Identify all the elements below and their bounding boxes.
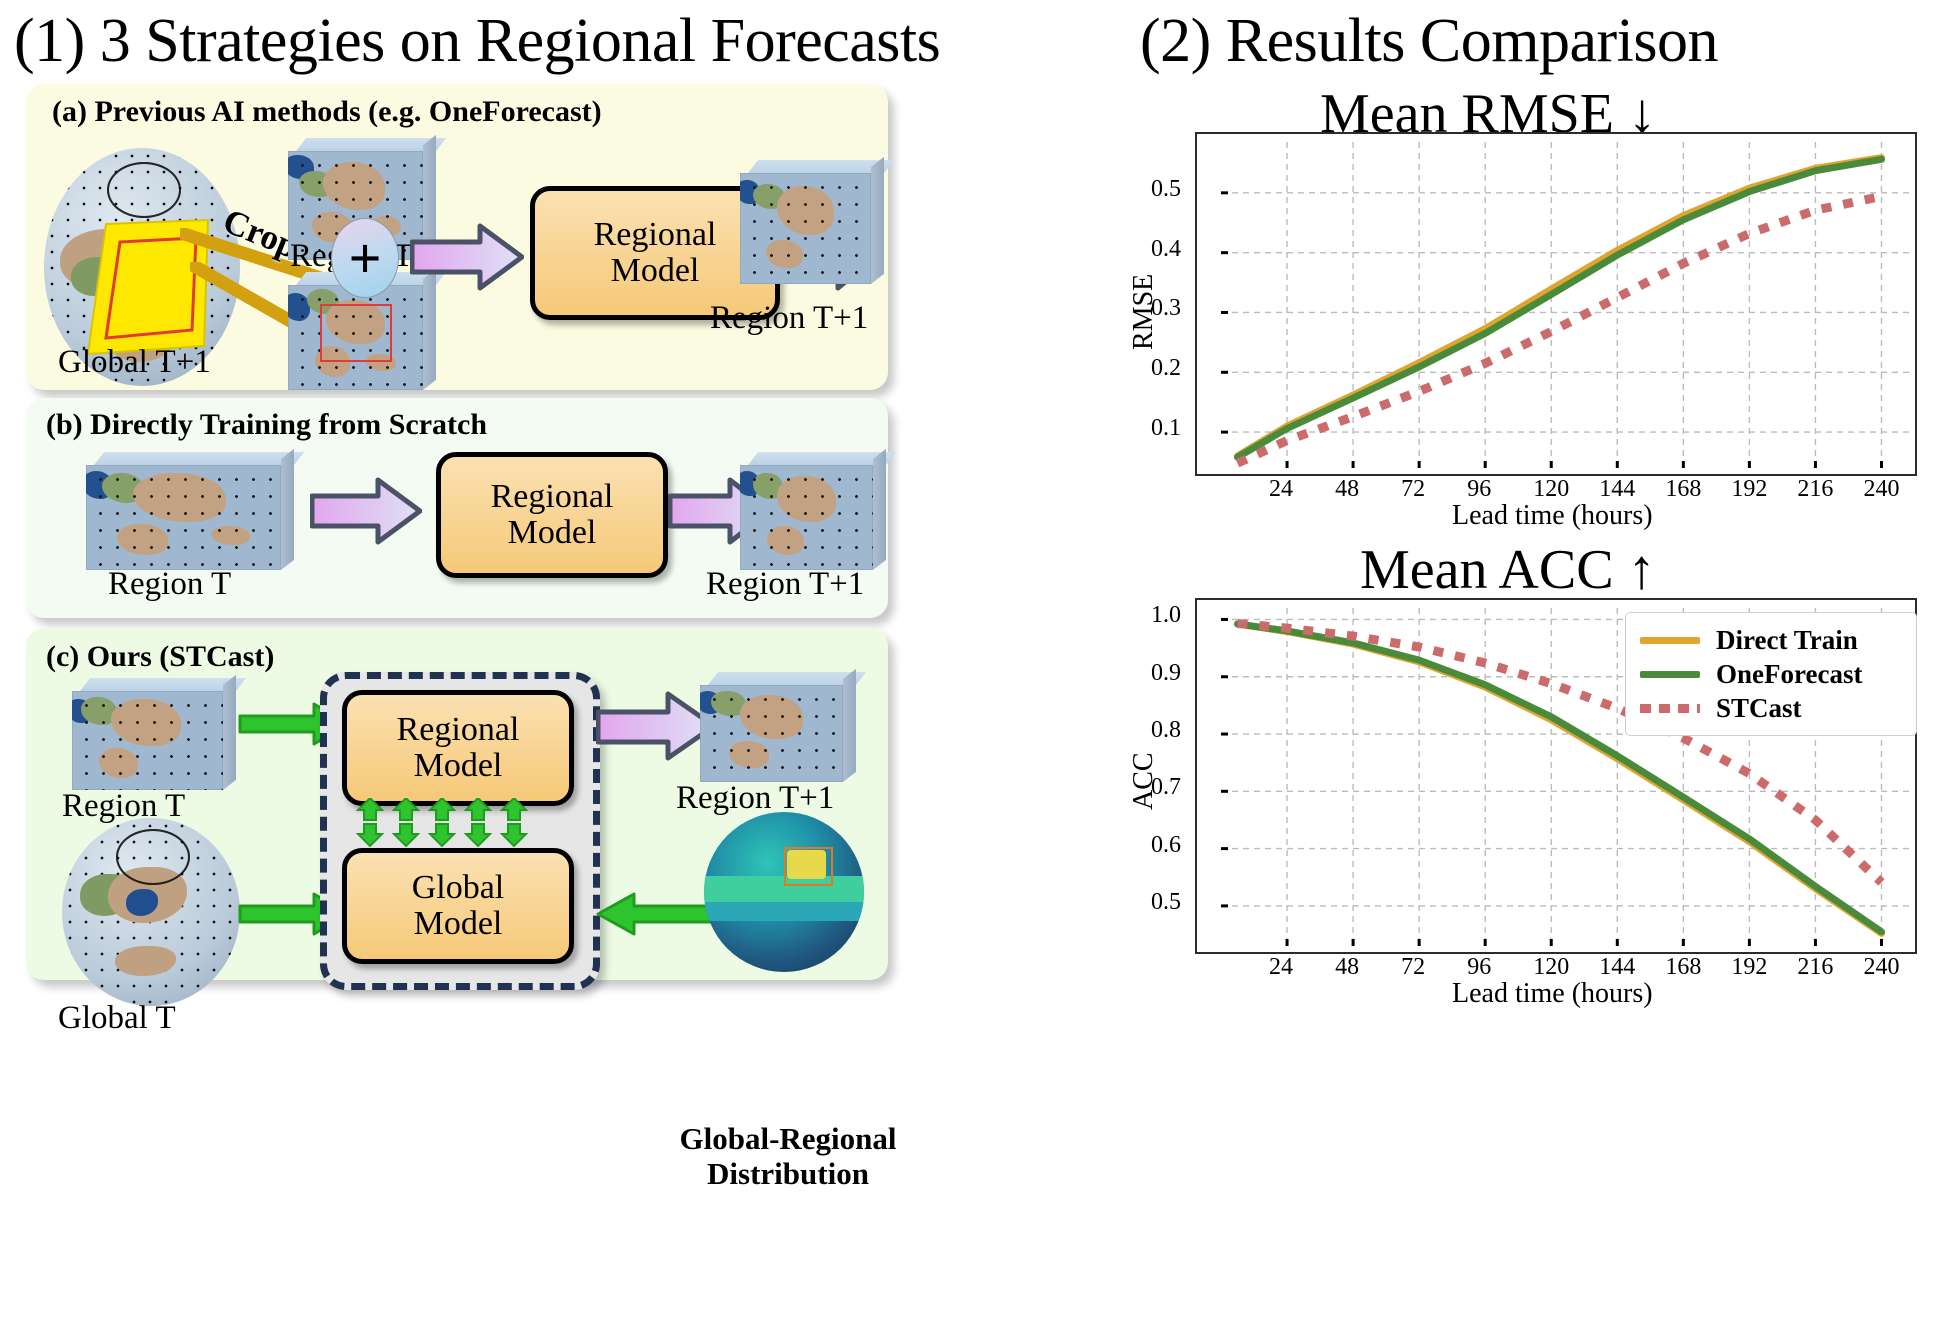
y-tick-label: 0.5 (1151, 889, 1181, 916)
tile-map-face (86, 465, 281, 570)
x-tick-label: 48 (1335, 476, 1359, 503)
x-tick-label: 144 (1599, 476, 1635, 503)
tile-side-face (873, 449, 886, 570)
model-label-line2: Model (611, 253, 700, 289)
tile-map-face (700, 685, 843, 782)
x-tick-label: 168 (1665, 954, 1701, 981)
latitude-ring (116, 829, 190, 885)
arrow-to-regional-model-b (310, 476, 422, 546)
acc-x-axis-label: Lead time (hours) (1452, 978, 1653, 1010)
x-tick-label: 72 (1401, 954, 1425, 981)
x-tick-label: 120 (1533, 954, 1569, 981)
legend-swatch-oneforecast (1640, 671, 1700, 678)
model-label-line2: Model (414, 906, 503, 942)
y-tick-label: 0.5 (1151, 176, 1181, 203)
tile-top-face (94, 452, 304, 465)
y-tick-label: 0.2 (1151, 355, 1181, 382)
legend-swatch-stcast (1640, 704, 1700, 713)
tile-side-face (843, 669, 856, 782)
acc-chart-legend: Direct Train OneForecast STCast (1625, 612, 1917, 736)
model-label-line2: Model (508, 515, 597, 551)
model-label-line1: Regional (594, 217, 717, 253)
tile-top-face (80, 678, 246, 691)
region-t1-caption-b: Region T+1 (706, 566, 864, 603)
region-t-tile-c (72, 678, 236, 790)
acc-chart-title: Mean ACC ↑ (1360, 538, 1656, 602)
tile-side-face (281, 449, 294, 570)
tile-map-face (72, 691, 223, 790)
region-t1-tile-c (700, 672, 856, 782)
legend-item: OneForecast (1640, 657, 1902, 691)
arrow-to-regional-model-a (410, 222, 524, 292)
x-tick-label: 216 (1797, 476, 1833, 503)
section-title-strategies: (1) 3 Strategies on Regional Forecasts (14, 6, 940, 77)
model-label-line2: Model (414, 748, 503, 784)
x-tick-label: 192 (1731, 476, 1767, 503)
distribution-band (704, 902, 864, 921)
dist-label-line1: Global-Regional (648, 1122, 928, 1157)
tile-map-face (288, 285, 423, 390)
bidirectional-coupling-arrows (356, 798, 556, 848)
y-tick-label: 0.4 (1151, 236, 1181, 263)
legend-swatch-direct-train (1640, 637, 1700, 644)
x-tick-label: 192 (1731, 954, 1767, 981)
legend-label: Direct Train (1716, 625, 1858, 656)
x-tick-label: 216 (1797, 954, 1833, 981)
region-t-tile-b (86, 452, 294, 570)
legend-label: STCast (1716, 693, 1802, 724)
rmse-x-axis-label: Lead time (hours) (1452, 500, 1653, 532)
crop-region-box (320, 304, 392, 363)
global-t-caption-c: Global T (58, 1000, 176, 1037)
dist-label-line2: Distribution (648, 1157, 928, 1192)
tile-map-face (740, 173, 871, 284)
regional-model-box-c: Regional Model (342, 690, 574, 806)
latitude-ring (107, 162, 181, 218)
panel-c-label: (c) Ours (STCast) (46, 640, 274, 674)
x-tick-label: 120 (1533, 476, 1569, 503)
x-tick-label: 48 (1335, 954, 1359, 981)
rmse-plot-area (1195, 132, 1917, 476)
arrow-distribution-to-global-model (590, 890, 712, 938)
x-tick-label: 72 (1401, 476, 1425, 503)
x-tick-label: 168 (1665, 476, 1701, 503)
section-title-results: (2) Results Comparison (1140, 6, 1718, 77)
y-tick-label: 0.1 (1151, 415, 1181, 442)
region-t1-tile-a (740, 160, 884, 284)
x-tick-label: 144 (1599, 954, 1635, 981)
rmse-chart-svg (1197, 134, 1915, 474)
y-tick-label: 0.3 (1151, 295, 1181, 322)
y-tick-label: 0.9 (1151, 660, 1181, 687)
region-t1-caption-c: Region T+1 (676, 780, 834, 817)
legend-item: Direct Train (1640, 623, 1902, 657)
legend-label: OneForecast (1716, 659, 1862, 690)
globe-global-t-icon (62, 818, 240, 1006)
plus-operator-icon: + (331, 218, 399, 298)
y-tick-label: 0.6 (1151, 832, 1181, 859)
y-tick-label: 0.7 (1151, 774, 1181, 801)
grid-dots (740, 465, 873, 570)
grid-dots (700, 685, 843, 782)
globe-caption-global-t1: Global T+1 (58, 344, 211, 381)
regional-model-box-b: Regional Model (436, 452, 668, 578)
y-tick-label: 1.0 (1151, 602, 1181, 629)
region-t1-caption-a: Region T+1 (710, 300, 868, 337)
panel-b-label: (b) Directly Training from Scratch (46, 408, 487, 442)
x-tick-label: 96 (1467, 476, 1491, 503)
model-label-line1: Global (412, 870, 505, 906)
y-tick-label: 0.8 (1151, 717, 1181, 744)
x-tick-label: 24 (1269, 954, 1293, 981)
legend-item: STCast (1640, 691, 1902, 725)
grid-dots (86, 465, 281, 570)
model-label-line1: Regional (491, 479, 614, 515)
tile-side-face (223, 675, 236, 790)
global-model-box-c: Global Model (342, 848, 574, 964)
region-t-caption-b: Region T (108, 566, 231, 603)
tile-side-face (871, 157, 884, 284)
panel-a-label: (a) Previous AI methods (e.g. OneForecas… (52, 95, 602, 129)
tile-map-face (740, 465, 873, 570)
x-tick-label: 240 (1863, 476, 1899, 503)
x-tick-label: 24 (1269, 476, 1293, 503)
distribution-region-box (784, 847, 833, 886)
global-regional-distribution-label: Global-Regional Distribution (648, 1122, 928, 1191)
global-regional-distribution-globe (704, 812, 864, 972)
model-label-line1: Regional (397, 712, 520, 748)
x-tick-label: 96 (1467, 954, 1491, 981)
region-t1-tile-b (740, 452, 886, 570)
x-tick-label: 240 (1863, 954, 1899, 981)
grid-dots (740, 173, 871, 284)
grid-dots (72, 691, 223, 790)
